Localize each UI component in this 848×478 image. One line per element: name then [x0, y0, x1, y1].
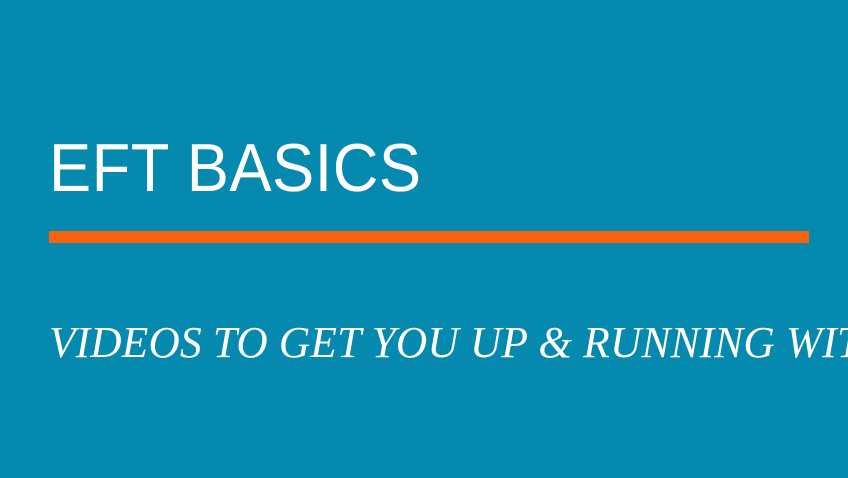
accent-divider-rule: [49, 231, 809, 243]
page-title: EFT BASICS: [49, 134, 756, 202]
title-slide: EFT BASICS VIDEOS TO GET YOU UP & RUNNIN…: [0, 0, 848, 478]
slide-subtitle: VIDEOS TO GET YOU UP & RUNNING WITH EFT: [49, 320, 827, 366]
